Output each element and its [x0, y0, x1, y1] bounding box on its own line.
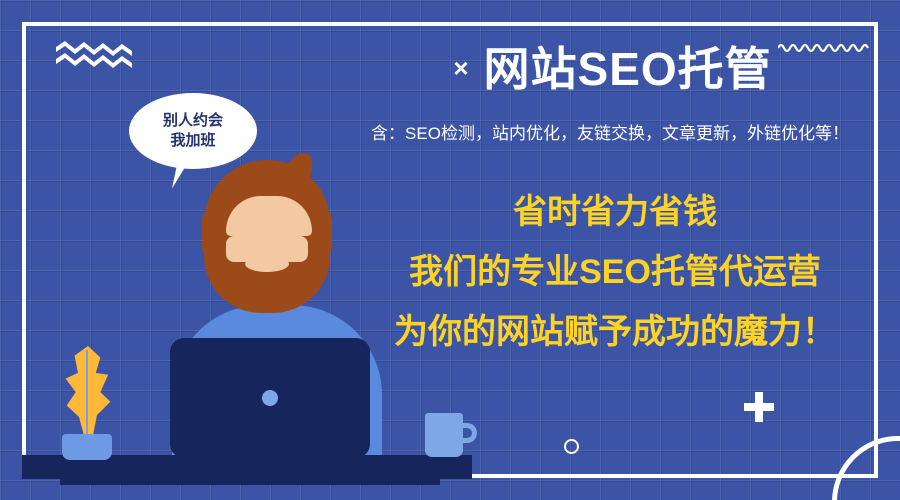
speech-bubble: 别人约会 我加班 — [129, 93, 257, 169]
plant-stem — [86, 350, 88, 440]
slogan-line-2: 我们的专业SEO托管代运营 — [350, 255, 880, 289]
character-mouth — [245, 256, 289, 272]
plant-leaf-icon — [60, 346, 116, 442]
speech-bubble-line-2: 我加班 — [163, 131, 223, 151]
headline-group: ×网站SEO托管 — [340, 44, 885, 95]
subtitle: 含：SEO检测，站内优化，友链交换，文章更新，外链优化等！ — [330, 119, 890, 144]
speech-bubble-text: 别人约会 我加班 — [163, 111, 223, 152]
page-title: ×网站SEO托管 — [340, 44, 885, 95]
slogan-group: 省时省力省钱 我们的专业SEO托管代运营 为你的网站赋予成功的魔力！ — [350, 195, 880, 349]
desk-edge — [60, 475, 440, 485]
x-mark-icon: × — [453, 54, 469, 83]
slogan-line-3: 为你的网站赋予成功的魔力！ — [350, 315, 880, 349]
coffee-mug-icon — [425, 413, 463, 457]
plus-icon — [744, 392, 774, 422]
slogan-line-1: 省时省力省钱 — [350, 195, 880, 229]
circle-outline-icon — [564, 439, 579, 454]
wave-lines-icon — [56, 40, 132, 68]
seo-promo-banner: 别人约会 我加班 ×网站SEO托管 含：SEO检测，站内优化，友链交换，文章更新… — [0, 0, 900, 500]
page-title-text: 网站SEO托管 — [484, 43, 772, 95]
laptop-logo-icon — [262, 390, 278, 406]
speech-bubble-line-1: 别人约会 — [163, 111, 223, 131]
plant-pot — [62, 434, 112, 460]
